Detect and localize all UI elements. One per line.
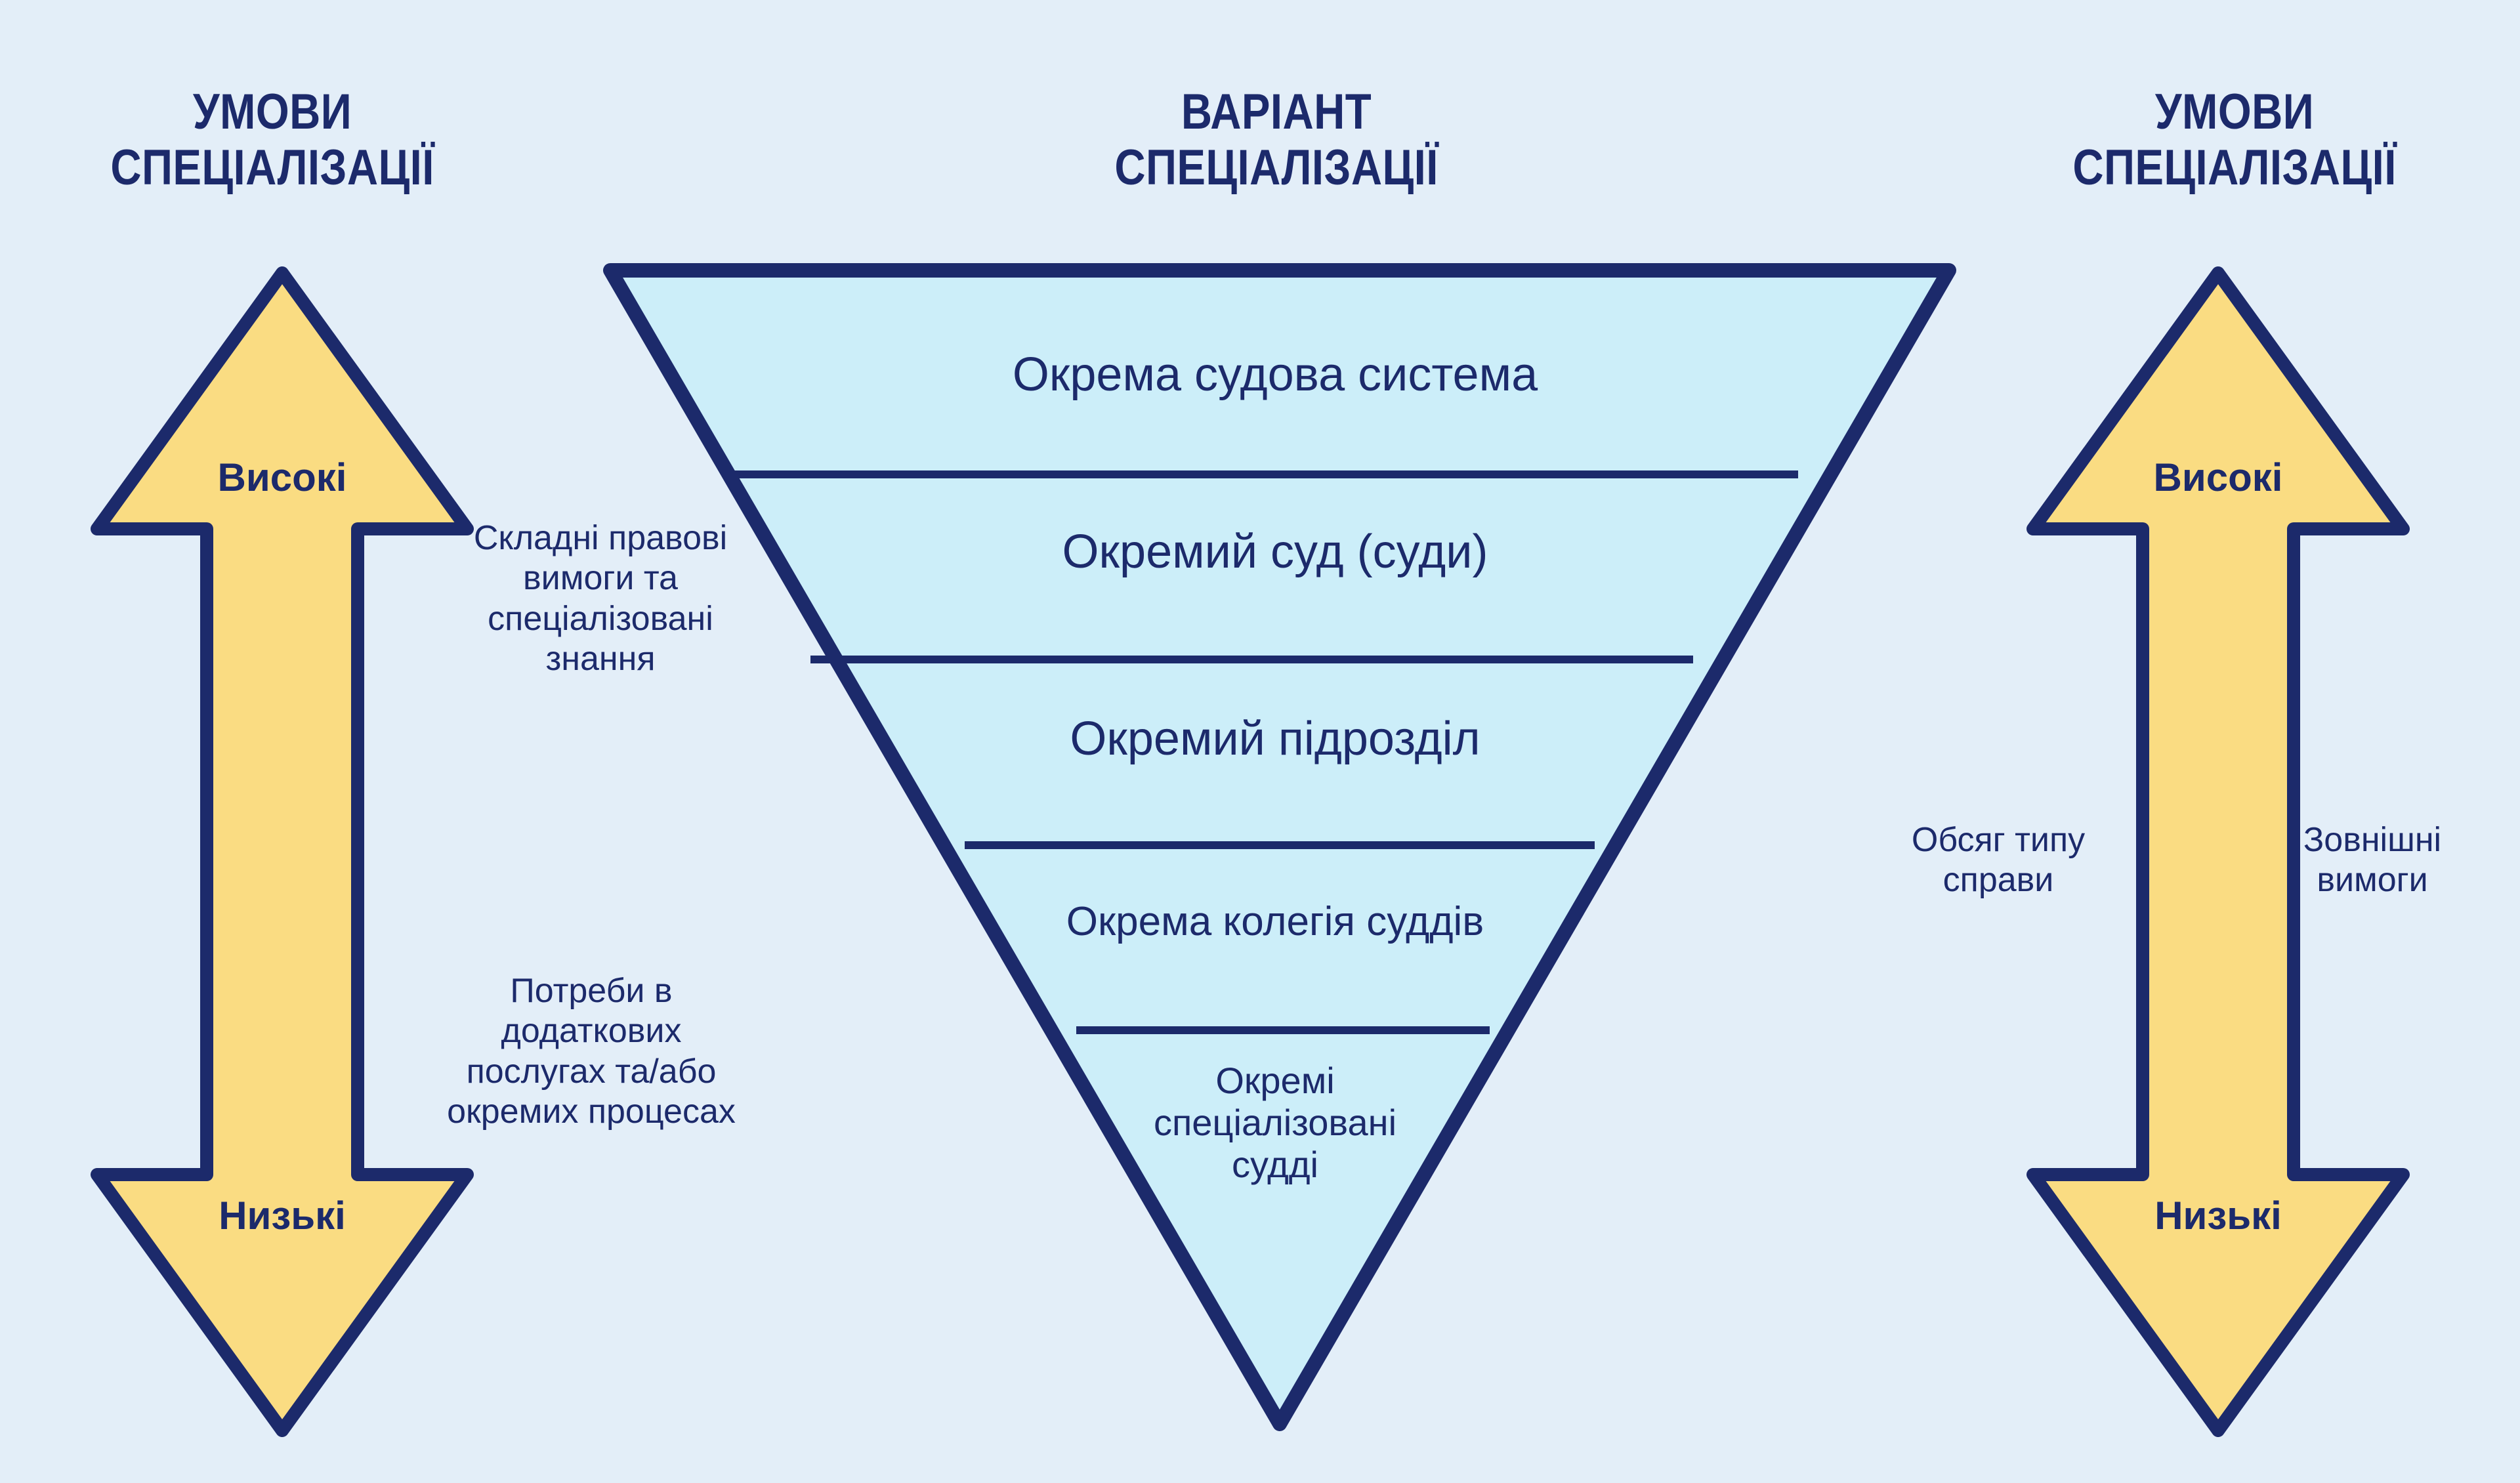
double-arrow-left: Високі Низькі [79, 261, 486, 1442]
arrow-left-low-label: Низькі [79, 1196, 486, 1236]
arrow-right-high-label: Високі [2015, 458, 2422, 497]
funnel-level-5-label: Окремі спеціалізовані судді [1072, 1060, 1479, 1185]
column-header-middle-line1: ВАРІАНТ [992, 84, 1562, 140]
inverted-triangle-funnel [591, 256, 1969, 1444]
arrow-left-high-label: Високі [79, 458, 486, 497]
column-header-left: УМОВИ СПЕЦІАЛІЗАЦІЇ [38, 84, 507, 196]
column-header-right: УМОВИ СПЕЦІАЛІЗАЦІЇ [2000, 84, 2469, 196]
column-header-middle-line2: СПЕЦІАЛІЗАЦІЇ [992, 140, 1562, 196]
note-right-right: Зовнішні вимоги [2251, 820, 2494, 901]
funnel-shape [591, 256, 1969, 1444]
arrow-right-low-label: Низькі [2015, 1196, 2422, 1236]
funnel-level-4-label: Окрема колегія суддів [967, 899, 1584, 946]
diagram-canvas: УМОВИ СПЕЦІАЛІЗАЦІЇ ВАРІАНТ СПЕЦІАЛІЗАЦІ… [0, 0, 2520, 1483]
column-header-right-line1: УМОВИ [2000, 84, 2469, 140]
column-header-left-line2: СПЕЦІАЛІЗАЦІЇ [38, 140, 507, 196]
funnel-level-1-label: Окрема судова система [783, 348, 1767, 402]
column-header-left-line1: УМОВИ [38, 84, 507, 140]
funnel-level-3-label: Окремий підрозділ [898, 712, 1652, 766]
column-header-right-line2: СПЕЦІАЛІЗАЦІЇ [2000, 140, 2469, 196]
funnel-level-2-label: Окремий суд (суди) [849, 525, 1702, 579]
double-arrow-up-down-icon [79, 261, 486, 1442]
column-header-middle: ВАРІАНТ СПЕЦІАЛІЗАЦІЇ [992, 84, 1562, 196]
